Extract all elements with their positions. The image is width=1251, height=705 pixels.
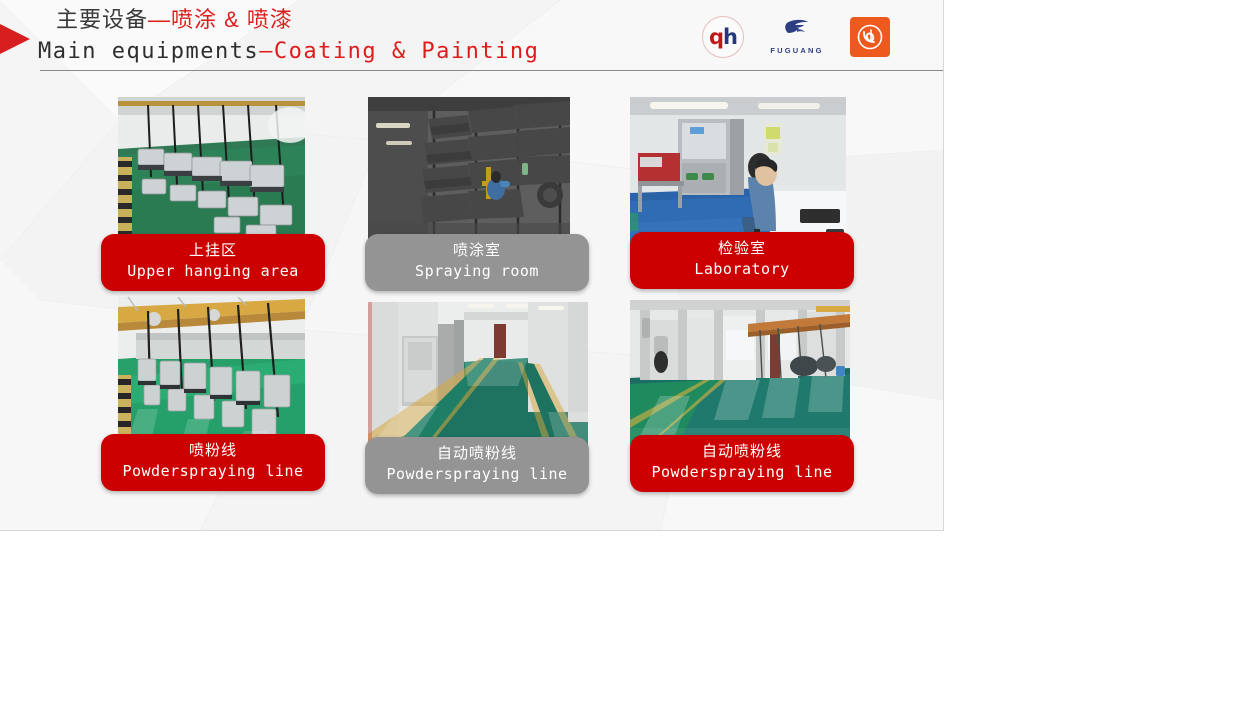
slide-canvas: 主要设备—喷涂 & 喷漆 Main equipments—Coating & P… — [0, 0, 944, 531]
header-divider — [40, 70, 944, 71]
caption-en: Spraying room — [365, 261, 589, 282]
card-powderspraying-line[interactable]: 喷粉线 Powderspraying line — [101, 297, 325, 494]
caption-en: Powderspraying line — [630, 462, 854, 483]
photo-automatic-powderspraying-line-2 — [630, 300, 850, 448]
photo-automatic-powderspraying-line-1 — [368, 302, 588, 450]
caption-spraying-room: 喷涂室 Spraying room — [365, 234, 589, 291]
caption-cn: 上挂区 — [101, 241, 325, 261]
page-title-cn-red: —喷涂 & 喷漆 — [148, 7, 293, 32]
caption-laboratory: 检验室 Laboratory — [630, 232, 854, 289]
caption-automatic-powderspraying-line-2: 自动喷粉线 Powderspraying line — [630, 435, 854, 492]
card-automatic-powderspraying-line-2[interactable]: 自动喷粉线 Powderspraying line — [630, 300, 854, 495]
caption-en: Powderspraying line — [101, 461, 325, 482]
photo-upper-hanging-area — [118, 97, 305, 247]
fuguang-logo: FUGUANG — [766, 19, 828, 55]
caption-automatic-powderspraying-line-1: 自动喷粉线 Powderspraying line — [365, 437, 589, 494]
caption-cn: 喷涂室 — [365, 241, 589, 261]
page-title-cn: 主要设备—喷涂 & 喷漆 — [56, 6, 293, 34]
logo-group: qh FUGUANG — [702, 16, 890, 58]
photo-laboratory — [630, 97, 846, 247]
card-upper-hanging-area[interactable]: 上挂区 Upper hanging area — [101, 97, 325, 294]
page-title-en-black: Main equipments — [38, 39, 259, 64]
qh-logo-q: q — [709, 27, 723, 48]
caption-en: Laboratory — [630, 259, 854, 280]
red-triangle-arrow-icon — [0, 24, 30, 54]
slide-header: 主要设备—喷涂 & 喷漆 Main equipments—Coating & P… — [0, 0, 944, 74]
orange-square-logo-mark-icon — [855, 22, 885, 52]
caption-en: Powderspraying line — [365, 464, 589, 485]
caption-cn: 自动喷粉线 — [630, 442, 854, 462]
fuguang-logo-text: FUGUANG — [770, 46, 823, 55]
fuguang-logo-mark-icon — [784, 19, 810, 43]
qh-logo-h: h — [723, 27, 737, 48]
card-spraying-room[interactable]: 喷涂室 Spraying room — [365, 97, 589, 294]
caption-cn: 检验室 — [630, 239, 854, 259]
card-laboratory[interactable]: 检验室 Laboratory — [630, 97, 854, 294]
caption-en: Upper hanging area — [101, 261, 325, 282]
caption-powderspraying-line: 喷粉线 Powderspraying line — [101, 434, 325, 491]
caption-cn: 自动喷粉线 — [365, 444, 589, 464]
photo-powderspraying-line — [118, 297, 305, 447]
caption-cn: 喷粉线 — [101, 441, 325, 461]
qh-logo: qh — [702, 16, 744, 58]
orange-square-logo — [850, 17, 890, 57]
page-title-cn-black: 主要设备 — [56, 7, 148, 32]
page-title-en: Main equipments—Coating & Painting — [38, 38, 539, 66]
caption-upper-hanging-area: 上挂区 Upper hanging area — [101, 234, 325, 291]
photo-spraying-room — [368, 97, 570, 247]
page-title-en-red: —Coating & Painting — [259, 39, 539, 64]
card-automatic-powderspraying-line-1[interactable]: 自动喷粉线 Powderspraying line — [365, 302, 589, 497]
